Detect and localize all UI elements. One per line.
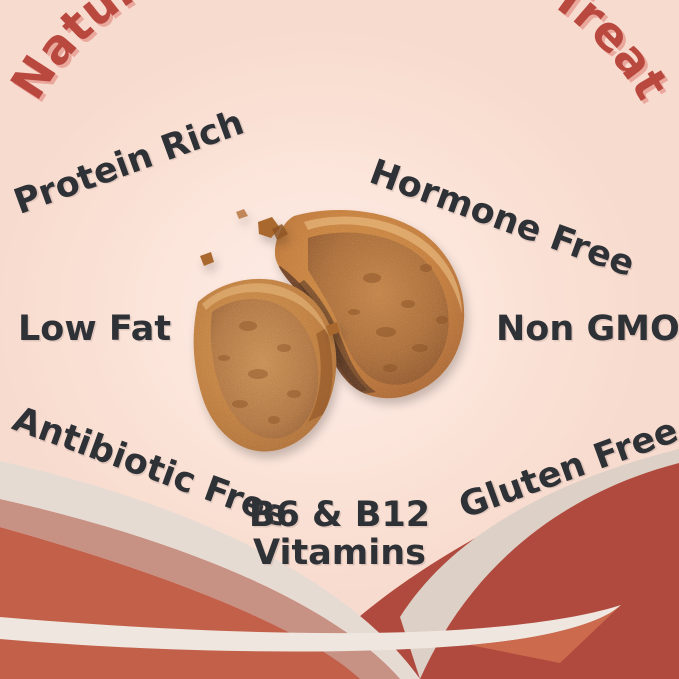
benefit-label-low-fat: Low Fat — [18, 311, 171, 349]
poster-canvas: Nature's Perfect Dog Treat Nature's Perf… — [0, 0, 679, 679]
broken-dog-treat-photo — [176, 208, 486, 476]
benefit-label-vitamins-line2: Vitamins — [0, 535, 679, 573]
title-arc-container: Nature's Perfect Dog Treat Nature's Perf… — [0, 22, 679, 162]
title-arc-svg: Nature's Perfect Dog Treat Nature's Perf… — [0, 22, 679, 162]
product-image — [176, 208, 486, 476]
benefit-label-vitamins-line1: B6 & B12 — [0, 497, 679, 535]
benefit-label-vitamins: B6 & B12 Vitamins — [0, 497, 679, 573]
benefit-label-non-gmo: Non GMO — [496, 311, 679, 349]
